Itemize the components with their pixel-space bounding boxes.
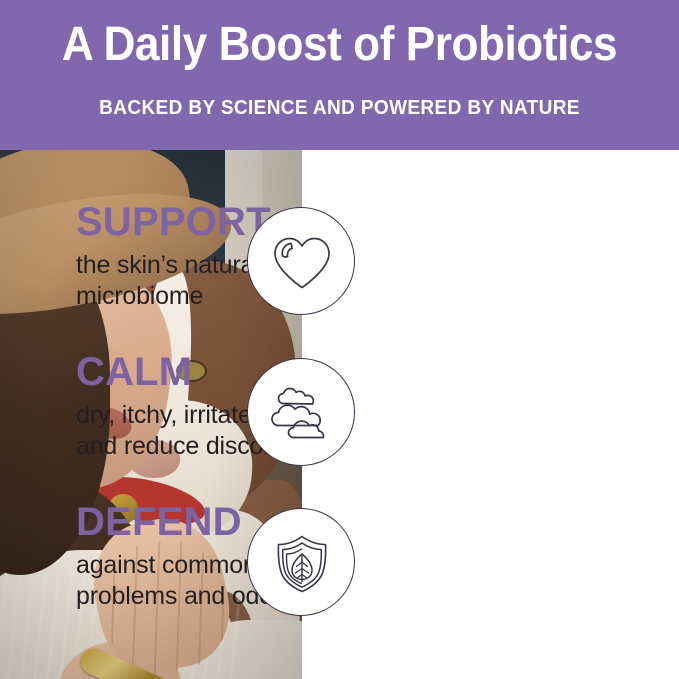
benefits-panel — [302, 150, 679, 679]
heart-icon — [247, 207, 355, 315]
header-banner: A Daily Boost of Probiotics BACKED BY SC… — [0, 0, 679, 150]
feature-title: SUPPORT — [76, 200, 271, 244]
product-benefits-poster: A Daily Boost of Probiotics BACKED BY SC… — [0, 0, 679, 679]
clouds-icon — [247, 358, 355, 466]
page-title: A Daily Boost of Probiotics — [27, 16, 652, 74]
feature-title: DEFEND — [76, 500, 242, 544]
header-subtitle: BACKED BY SCIENCE AND POWERED BY NATURE — [17, 95, 662, 121]
feature-description: the skin’s natural microbiome — [76, 250, 260, 312]
shield-leaf-icon — [247, 508, 355, 616]
feature-title: CALM — [76, 350, 192, 394]
